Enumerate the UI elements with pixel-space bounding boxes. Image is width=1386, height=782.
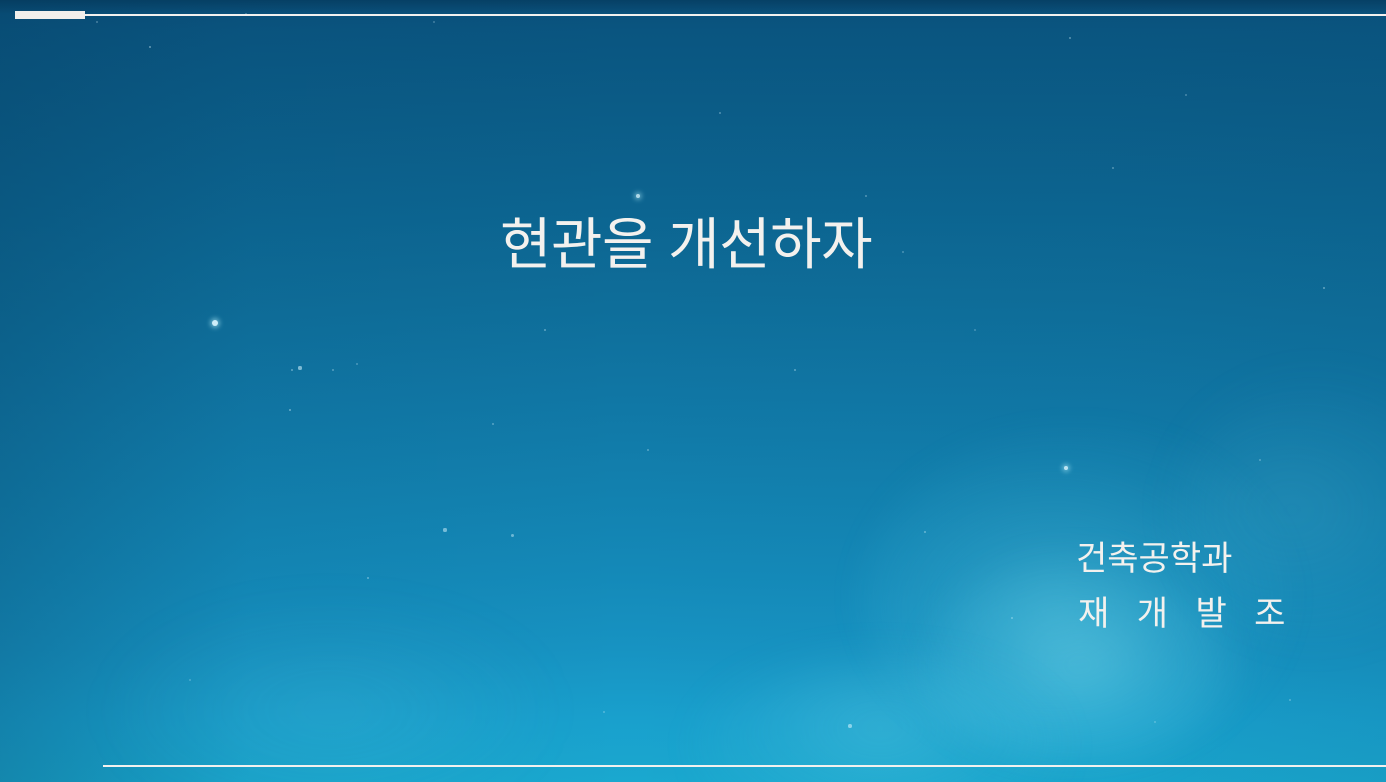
slide-title: 현관을 개선하자 (500, 214, 1060, 277)
subtitle-line-department: 건축공학과 (1040, 532, 1340, 587)
top-horizontal-rule (85, 14, 1386, 16)
slide-background-top-band (0, 0, 1386, 14)
presentation-title-slide: 현관을 개선하자 건축공학과 재 개 발 조 (0, 0, 1386, 782)
bottom-horizontal-rule (103, 765, 1386, 767)
slide-subtitle: 건축공학과 재 개 발 조 (1040, 532, 1340, 642)
subtitle-line-team: 재 개 발 조 (1040, 587, 1340, 642)
slide-background-horizontal-shade (0, 0, 1386, 782)
top-accent-bar (15, 11, 85, 19)
